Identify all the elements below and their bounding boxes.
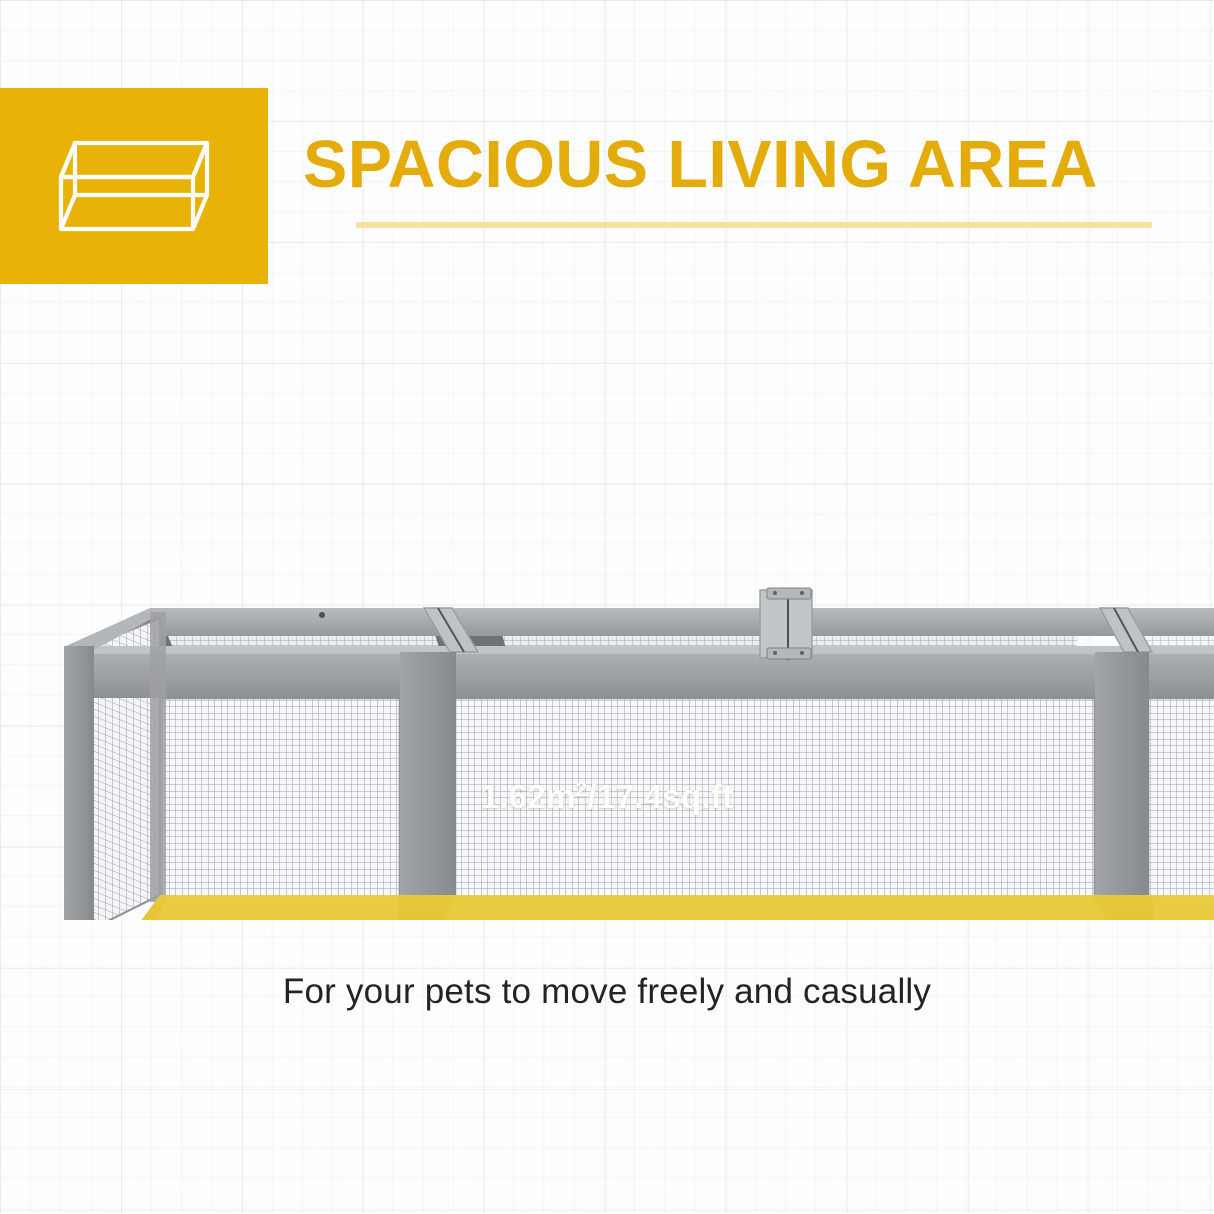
top-lid-left <box>150 608 478 652</box>
post-divider-right <box>1095 652 1149 904</box>
product-image <box>0 440 1214 920</box>
lid-hinge-top <box>767 588 811 599</box>
page-title: SPACIOUS LIVING AREA <box>303 131 1098 198</box>
post-front-left <box>64 646 94 920</box>
floor-area-highlight <box>78 895 1214 920</box>
brand-badge <box>0 88 268 284</box>
pet-cage-illustration <box>0 440 1214 920</box>
top-lid-center <box>760 588 812 660</box>
post-divider-left <box>400 652 456 904</box>
caption-text: For your pets to move freely and casuall… <box>0 972 1214 1012</box>
cage-box-outline-icon <box>39 121 229 251</box>
lid-hinge-bottom <box>767 648 811 659</box>
title-underline-bar <box>356 222 1152 228</box>
